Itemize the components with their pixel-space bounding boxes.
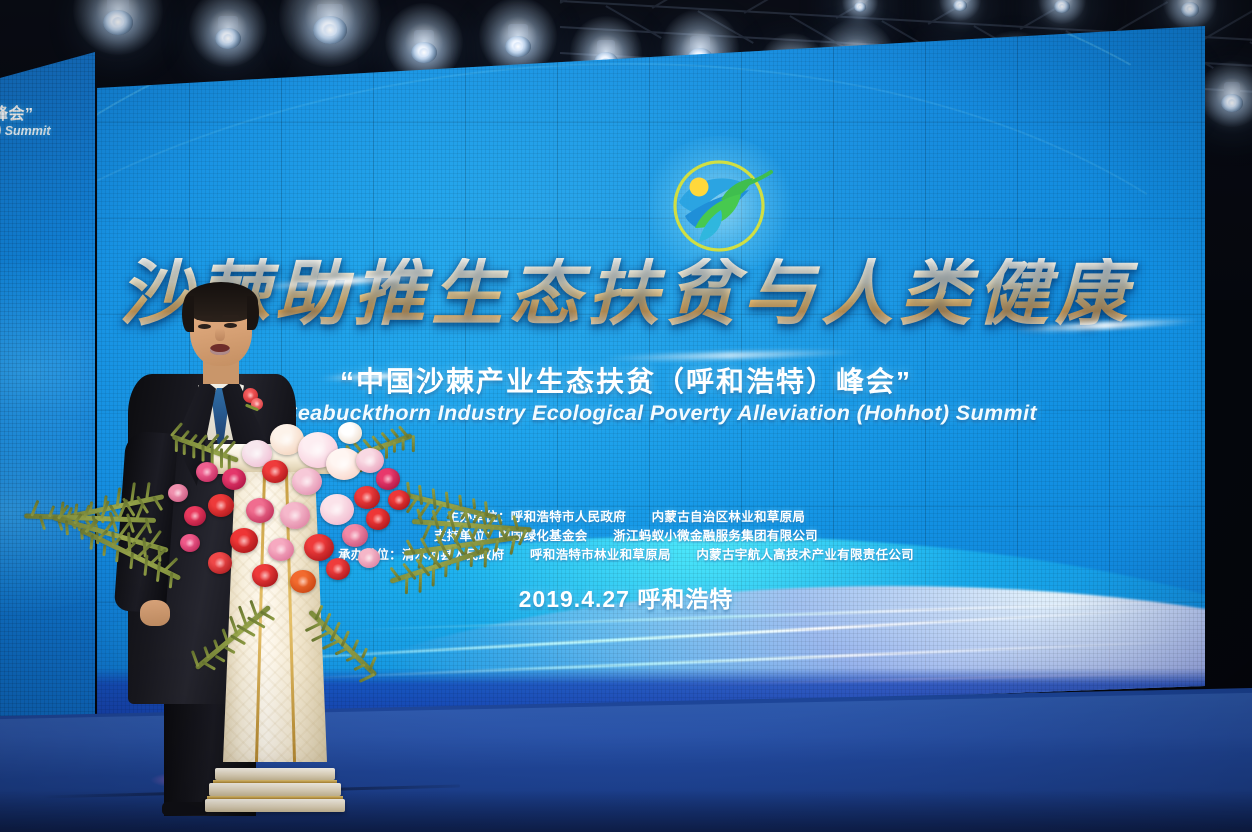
flower-bloom-28 <box>388 490 410 510</box>
flower-bloom-27 <box>180 534 200 552</box>
flower-bloom-5 <box>222 468 246 490</box>
flower-bloom-13 <box>320 494 354 525</box>
flower-bloom-26 <box>358 548 380 568</box>
speaker-nose <box>215 328 225 341</box>
flower-bloom-11 <box>246 498 274 523</box>
flower-bloom-23 <box>252 564 278 587</box>
flower-bloom-21 <box>366 508 390 530</box>
podium-base-tier-2 <box>209 783 341 796</box>
stage-scene: 峰会” hhot) Summit <box>0 0 1252 832</box>
flower-bloom-25 <box>326 558 350 580</box>
flower-bloom-17 <box>230 528 258 553</box>
flower-bloom-6 <box>196 462 218 482</box>
flower-bloom-20 <box>342 524 368 547</box>
speaker-brow-left <box>196 316 213 320</box>
flower-bloom-4 <box>262 460 288 483</box>
flower-bloom-19 <box>304 534 334 561</box>
flower-bloom-24 <box>290 570 316 593</box>
floral-arrangement <box>150 398 420 618</box>
speaker-brow-right <box>222 315 239 319</box>
flower-bloom-7 <box>292 468 322 495</box>
podium-base-tier-1 <box>215 768 335 780</box>
flower-bloom-29 <box>168 484 188 502</box>
speaker-hair-side-right <box>247 296 259 330</box>
palm-frond-10 <box>171 434 239 464</box>
flower-bloom-12 <box>280 502 310 529</box>
flower-bloom-8 <box>338 422 362 444</box>
flower-bloom-14 <box>354 486 380 509</box>
speaker-eye-right <box>224 323 237 328</box>
summit-emblem-logo <box>661 154 777 258</box>
flower-bloom-10 <box>208 494 234 517</box>
flower-bloom-16 <box>184 506 206 526</box>
speaker-hair-side-left <box>182 296 194 332</box>
podium-base-tier-3 <box>205 799 345 812</box>
speaker-eye-left <box>198 324 211 329</box>
flower-bloom-18 <box>268 538 294 561</box>
flower-bloom-22 <box>208 552 232 574</box>
flower-bloom-15 <box>376 468 400 490</box>
speaker-mouth <box>210 344 230 355</box>
